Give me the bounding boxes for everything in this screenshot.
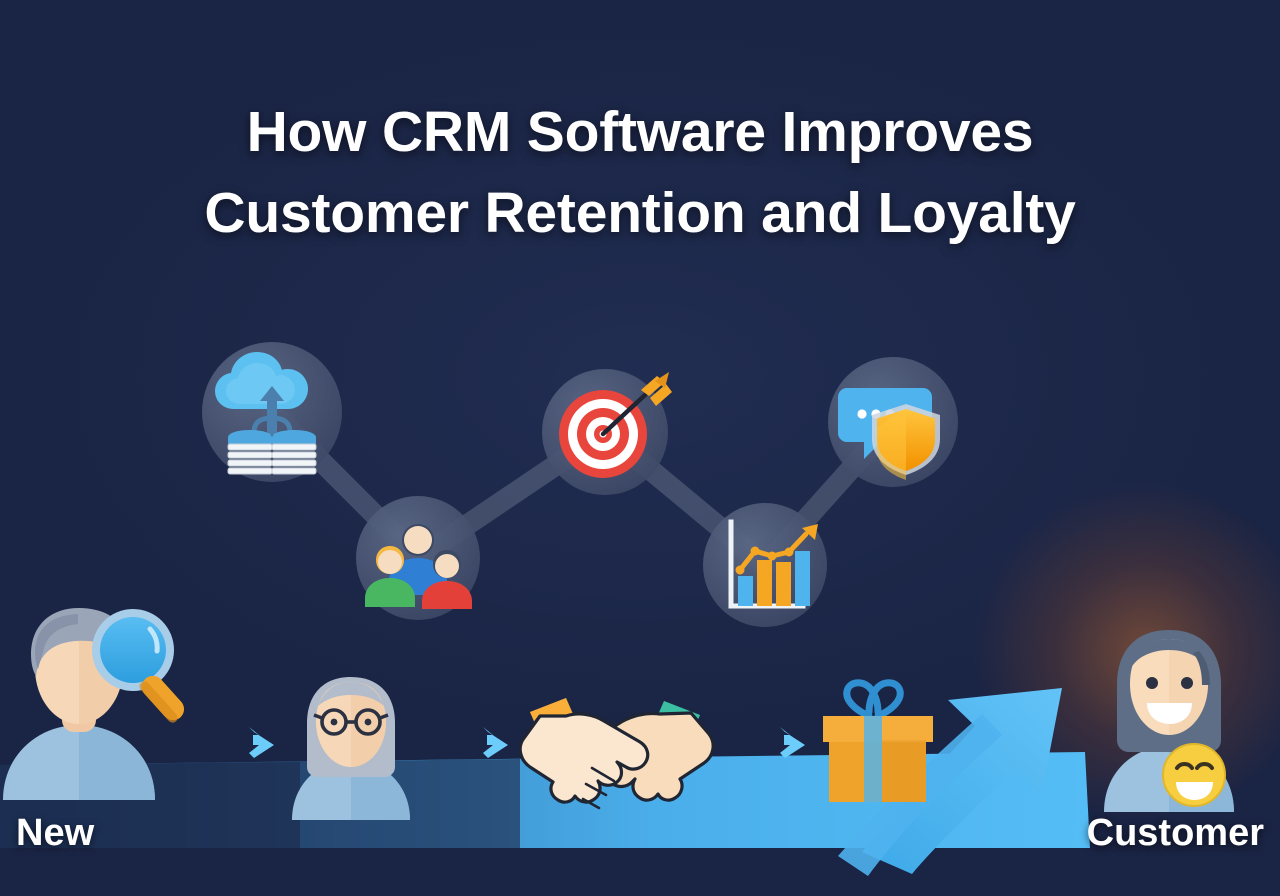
journey-step-engaged-lead[interactable]: [292, 677, 410, 820]
infographic-canvas: How CRM Software Improves Customer Reten…: [0, 0, 1280, 896]
chart-bar-3: [776, 562, 791, 606]
network-node-customer-segments[interactable]: [356, 496, 480, 620]
chart-bar-2: [757, 560, 772, 606]
gift-box-icon: [823, 683, 933, 802]
smiley-emoji-badge: [1163, 744, 1225, 806]
network-node-support-security[interactable]: [828, 357, 958, 487]
journey-arrow-3: [718, 727, 805, 758]
journey-start-label: New: [16, 812, 94, 855]
journey-arrow-1: [183, 727, 274, 758]
network-node-analytics[interactable]: [703, 503, 827, 627]
chart-bar-1: [738, 576, 753, 606]
journey-step-reward[interactable]: [823, 683, 933, 802]
journey-step-loyal-customer[interactable]: [1104, 630, 1234, 812]
chart-bar-4: [795, 551, 810, 606]
network-node-cloud-database[interactable]: [202, 342, 342, 482]
journey-arrow-2: [420, 727, 508, 758]
journey-end-label: Customer: [1087, 812, 1264, 855]
crm-capability-network: [0, 0, 1280, 896]
